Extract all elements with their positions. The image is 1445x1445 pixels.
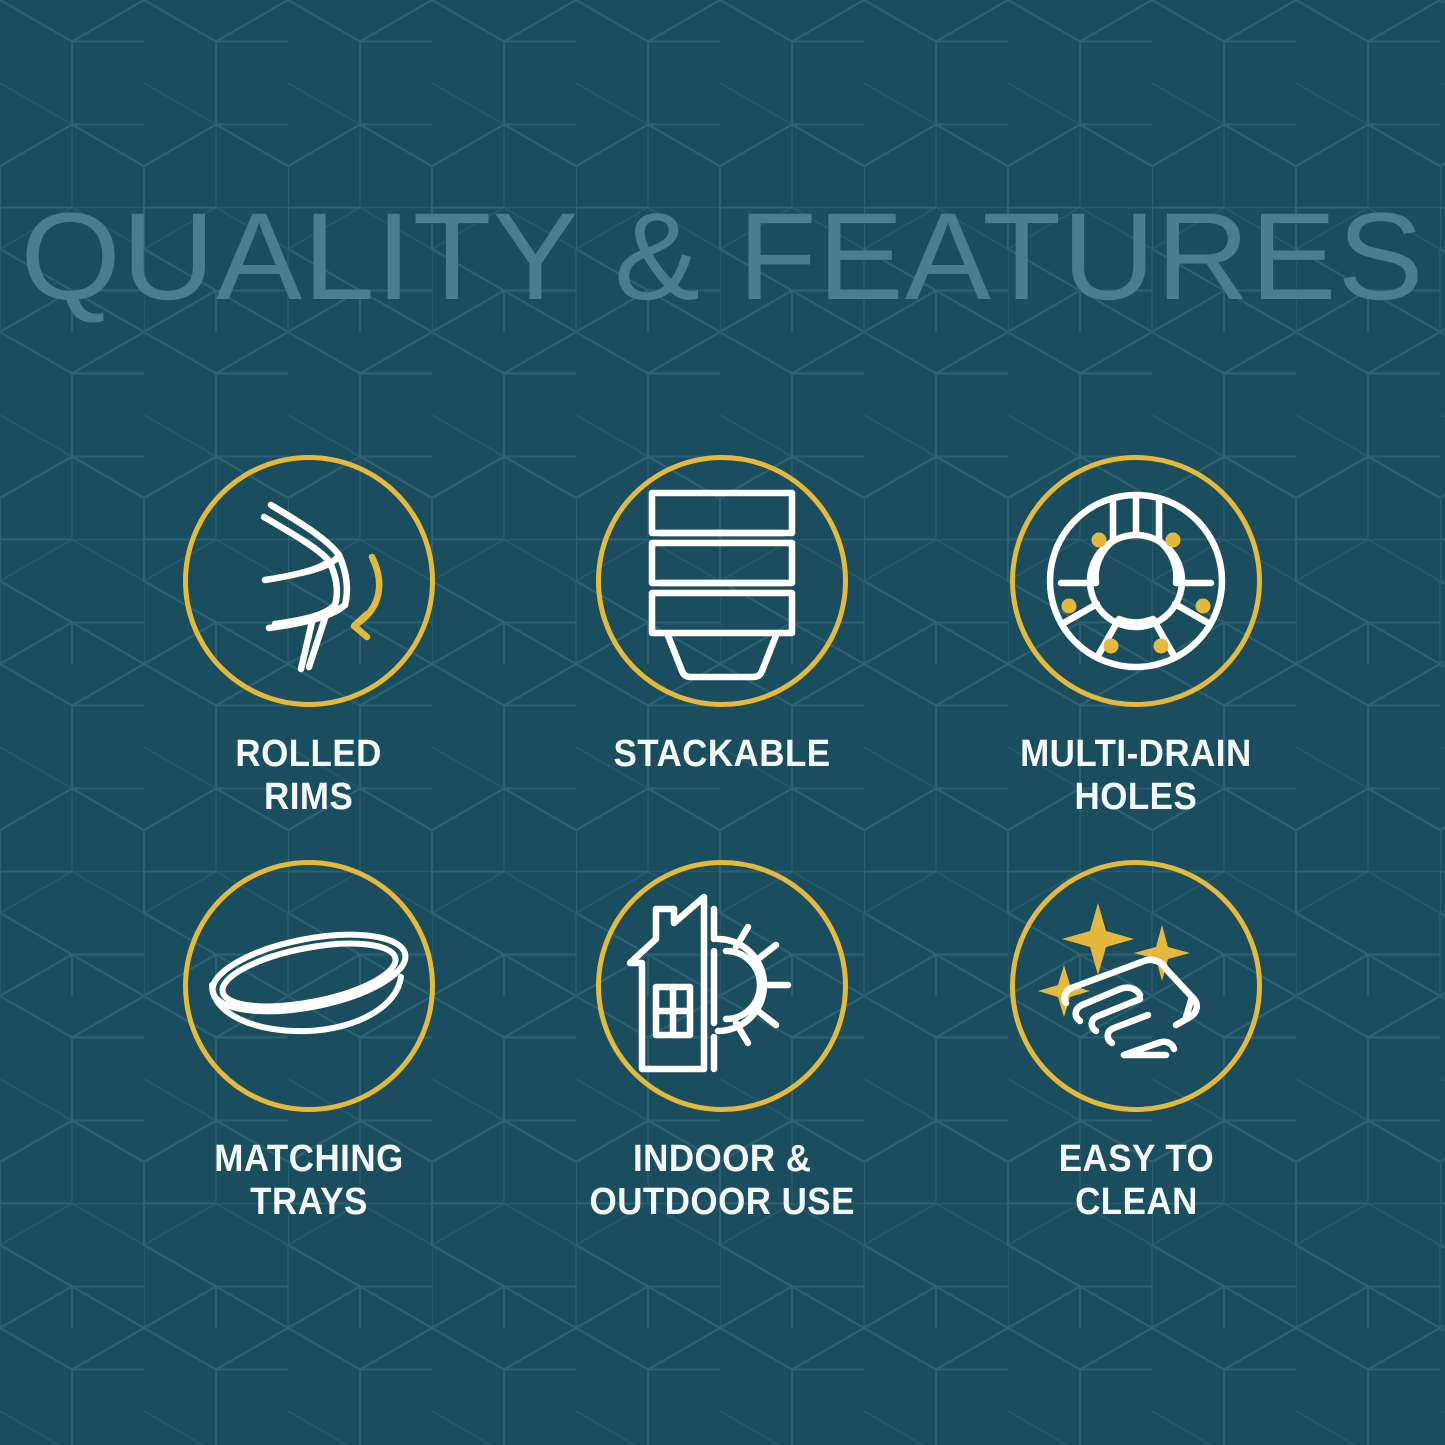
feature-item-multi-drain-holes[interactable]: MULTI-DRAIN HOLES — [929, 455, 1343, 860]
infographic-panel: QUALITY & FEATURES — [0, 0, 1445, 1445]
icon-circle-multi-drain-holes — [1010, 455, 1262, 707]
feature-label-indoor-outdoor-use: INDOOR & OUTDOOR USE — [590, 1138, 855, 1224]
feature-label-easy-to-clean: EASY TO CLEAN — [1058, 1138, 1213, 1224]
house-sun-icon — [622, 891, 822, 1081]
feature-item-rolled-rims[interactable]: ROLLED RIMS — [102, 455, 516, 860]
feature-item-stackable[interactable]: STACKABLE — [516, 455, 930, 860]
icon-circle-stackable — [596, 455, 848, 707]
feature-label-multi-drain-holes: MULTI-DRAIN HOLES — [1020, 733, 1252, 819]
feature-label-rolled-rims: ROLLED RIMS — [236, 733, 382, 819]
feature-item-indoor-outdoor-use[interactable]: INDOOR & OUTDOOR USE — [516, 860, 930, 1265]
icon-circle-easy-to-clean — [1010, 860, 1262, 1112]
icon-circle-indoor-outdoor-use — [596, 860, 848, 1112]
sparkle-icons — [1038, 903, 1190, 1017]
saucer-tray-icon — [204, 921, 414, 1051]
icon-circle-rolled-rims — [183, 455, 435, 707]
hand-wiping-sparkle-icon — [1036, 891, 1236, 1081]
feature-label-stackable: STACKABLE — [614, 733, 831, 776]
drain-hole-dots — [1062, 533, 1211, 654]
feature-item-matching-trays[interactable]: MATCHING TRAYS — [102, 860, 516, 1265]
feature-item-easy-to-clean[interactable]: EASY TO CLEAN — [929, 860, 1343, 1265]
feature-label-matching-trays: MATCHING TRAYS — [214, 1138, 403, 1224]
stacked-pots-icon — [627, 481, 817, 681]
rolled-rim-icon — [209, 481, 409, 681]
drain-holes-icon — [1041, 486, 1231, 676]
feature-grid: ROLLED RIMS — [102, 455, 1343, 1265]
page-title: QUALITY & FEATURES — [0, 192, 1445, 322]
icon-circle-matching-trays — [183, 860, 435, 1112]
